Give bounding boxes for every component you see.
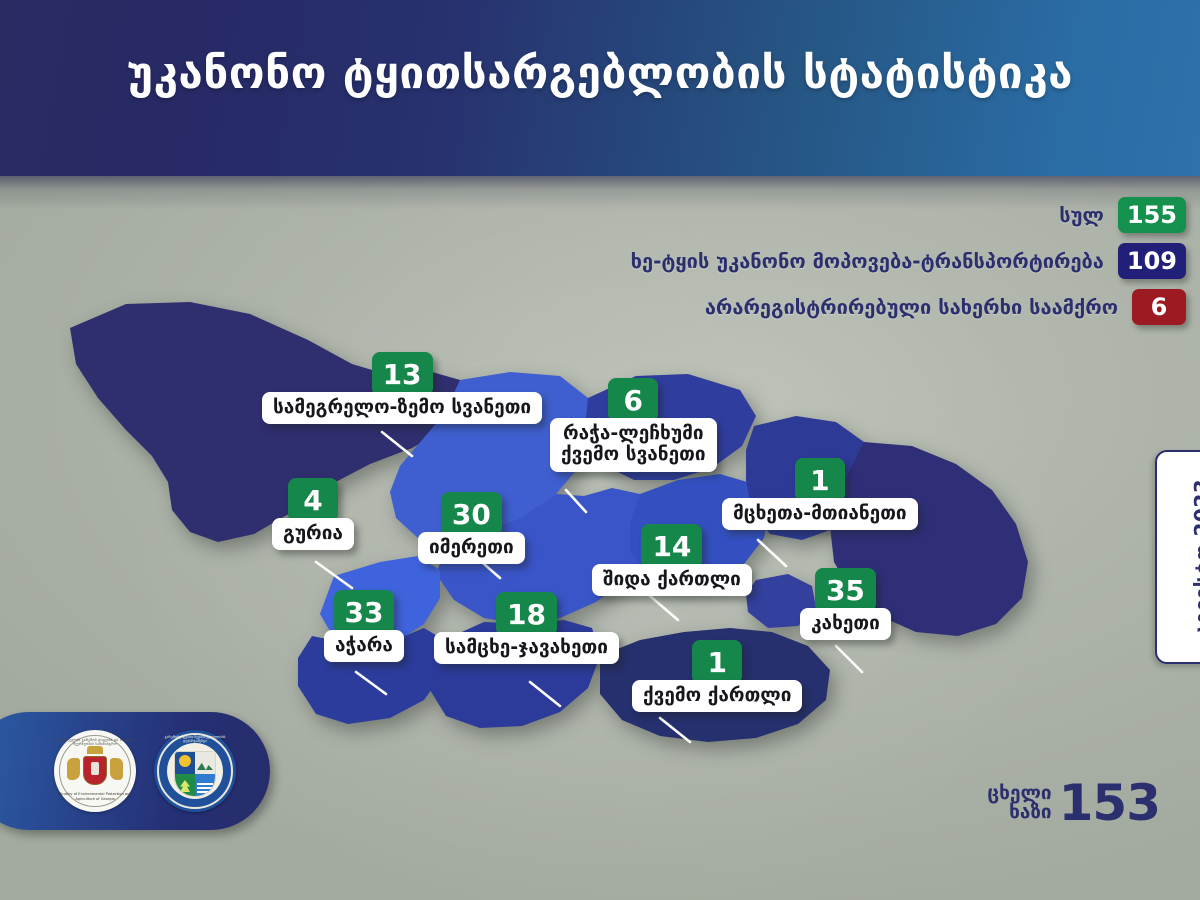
map-pin-guria[interactable]: 4 გურია	[272, 478, 354, 550]
date-tab-label: აგვისტო 2023	[1190, 479, 1200, 635]
legend-badge-total: 155	[1118, 197, 1186, 233]
tree-icon	[180, 780, 190, 792]
map-pin-value-mtskheta: 1	[795, 458, 845, 502]
legend-badge-illegal-logging: 109	[1118, 243, 1186, 279]
supervision-shield-icon	[174, 751, 216, 797]
map-pin-label-samegrelo: სამეგრელო-ზემო სვანეთი	[262, 392, 542, 424]
map-pin-mtskheta[interactable]: 1 მცხეთა-მთიანეთი	[722, 458, 918, 530]
quadrant-mountain	[195, 752, 215, 774]
shield-icon	[83, 756, 107, 785]
ministry-emblem-icon: საქართველოს გარემოს დაცვისა და სოფლის მე…	[54, 730, 136, 812]
mountain-icon	[197, 761, 213, 770]
map-pin-value-kakheti: 35	[815, 568, 876, 612]
map-pin-kakheti[interactable]: 35 კახეთი	[800, 568, 891, 640]
legend-label-illegal-logging: ხე-ტყის უკანონო მოპოვება-ტრანსპორტირება	[631, 249, 1104, 273]
hotline-words: ცხელი ხაზი	[987, 784, 1051, 823]
legend-row-illegal-logging: ხე-ტყის უკანონო მოპოვება-ტრანსპორტირება …	[426, 242, 1186, 280]
map-pin-samtskhe[interactable]: 18 სამცხე-ჯავახეთი	[434, 592, 619, 664]
map-pin-adjara[interactable]: 33 აჭარა	[324, 590, 404, 662]
map-pin-racha[interactable]: 6 რაჭა-ლეჩხუმი ქვემო სვანეთი	[550, 378, 717, 472]
map-pin-value-imereti: 30	[441, 492, 502, 536]
map-pin-value-racha: 6	[608, 378, 658, 422]
map-pin-value-guria: 4	[288, 478, 338, 522]
legend-row-total: სულ 155	[426, 196, 1186, 234]
supervision-emblem-text: გარემოსდაცვითი ზედამხედველობის დეპარტამე…	[154, 735, 236, 743]
map-pin-value-adjara: 33	[334, 590, 395, 634]
quadrant-sun	[175, 752, 195, 774]
map-pin-label-racha: რაჭა-ლეჩხუმი ქვემო სვანეთი	[550, 418, 717, 472]
lion-left-icon	[67, 758, 80, 780]
hotline-number: 153	[1059, 780, 1160, 826]
map-pin-imereti[interactable]: 30 იმერეთი	[418, 492, 525, 564]
hotline-line2: ხაზი	[987, 803, 1051, 822]
map-pin-label-imereti: იმერეთი	[418, 532, 525, 564]
map-pin-label-kvemo: ქვემო ქართლი	[632, 680, 802, 712]
quadrant-water	[195, 774, 215, 796]
supervision-emblem-icon: გარემოსდაცვითი ზედამხედველობის დეპარტამე…	[154, 730, 236, 812]
sun-icon	[179, 755, 191, 767]
ministry-emblem-bottom-text: Ministry of Environmental Protection and…	[54, 792, 136, 801]
quadrant-tree	[175, 774, 195, 796]
legend-label-total: სულ	[1059, 203, 1104, 227]
crown-icon	[87, 746, 103, 754]
wave-icon	[197, 783, 213, 793]
hotline: ცხელი ხაზი 153	[987, 780, 1160, 826]
map-pin-value-samtskhe: 18	[496, 592, 557, 636]
map-pin-shida[interactable]: 14 შიდა ქართლი	[592, 524, 752, 596]
map-pin-label-shida: შიდა ქართლი	[592, 564, 752, 596]
infographic-canvas: უკანონო ტყითსარგებლობის სტატისტიკა სულ 1…	[0, 0, 1200, 900]
map-pin-value-samegrelo: 13	[372, 352, 433, 396]
map-pin-value-shida: 14	[641, 524, 702, 568]
map-pin-label-mtskheta: მცხეთა-მთიანეთი	[722, 498, 918, 530]
page-title: უკანონო ტყითსარგებლობის სტატისტიკა	[0, 48, 1200, 99]
map-pin-samegrelo[interactable]: 13 სამეგრელო-ზემო სვანეთი	[262, 352, 542, 424]
map-pin-kvemo[interactable]: 1 ქვემო ქართლი	[632, 640, 802, 712]
map-pin-label-samtskhe: სამცხე-ჯავახეთი	[434, 632, 619, 664]
date-tab[interactable]: აგვისტო 2023	[1155, 450, 1200, 664]
map-pin-label-guria: გურია	[272, 518, 354, 550]
map-pin-value-kvemo: 1	[692, 640, 742, 684]
legend-badge-unregistered-sawmill: 6	[1132, 289, 1186, 325]
map-pin-label-kakheti: კახეთი	[800, 608, 891, 640]
logo-pill: საქართველოს გარემოს დაცვისა და სოფლის მე…	[0, 712, 270, 830]
lion-right-icon	[110, 758, 123, 780]
ministry-emblem-top-text: საქართველოს გარემოს დაცვისა და სოფლის მე…	[54, 738, 136, 746]
map-pin-label-adjara: აჭარა	[324, 630, 404, 662]
